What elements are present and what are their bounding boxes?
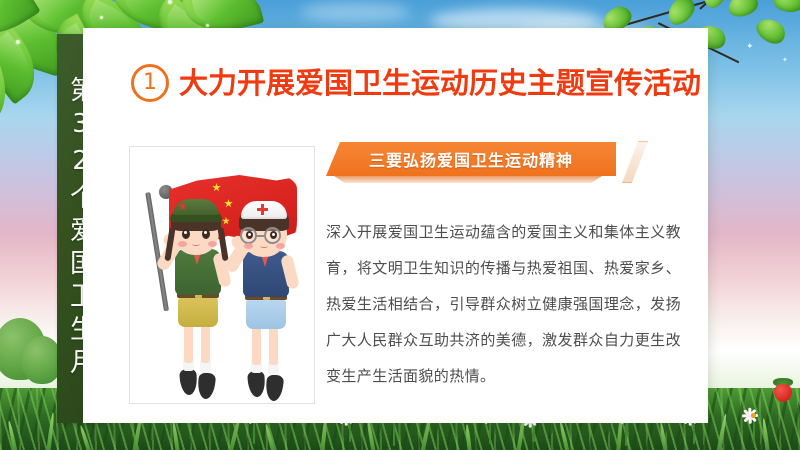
background-tree (22, 336, 62, 384)
banner-shadow (334, 176, 602, 183)
banner-label: 三要弘扬爱国卫生运动精神 (369, 147, 573, 171)
page-title-row: 1 大力开展爱国卫生运动历史主题宣传活动 (131, 64, 701, 102)
content-card: 1 大力开展爱国卫生运动历史主题宣传活动 (83, 28, 708, 423)
cloud-decor (300, 2, 410, 22)
daisy-flower (745, 407, 762, 424)
page-title: 大力开展爱国卫生运动历史主题宣传活动 (179, 69, 701, 98)
section-number-badge: 1 (131, 64, 169, 102)
military-cap (173, 199, 219, 219)
slide-canvas: ✦ ✦ (0, 0, 800, 450)
illustration-boy-saluting (224, 205, 310, 404)
section-banner: 三要弘扬爱国卫生运动精神 (326, 142, 676, 186)
illustration-frame (129, 146, 315, 404)
banner-accent-stripe (622, 141, 648, 183)
strawberry-decor (772, 378, 794, 402)
body-paragraph: 深入开展爱国卫生运动蕴含的爱国主义和集体主义教育，将文明卫生知识的传播与热爱祖国… (326, 214, 681, 394)
banner-body: 三要弘扬爱国卫生运动精神 (326, 142, 616, 176)
